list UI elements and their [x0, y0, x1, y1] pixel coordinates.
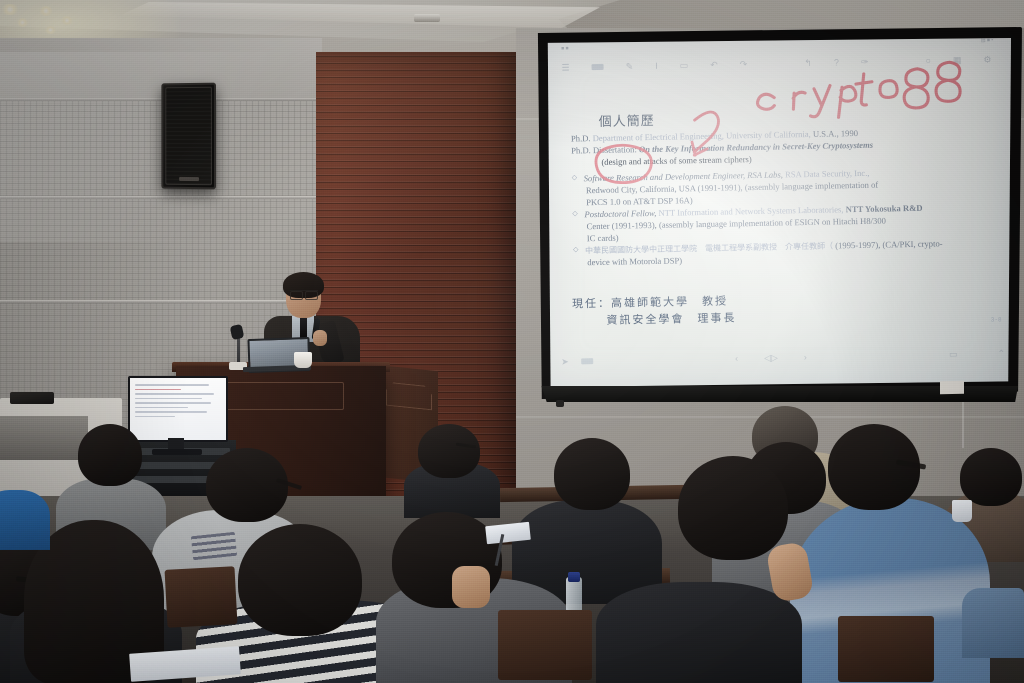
collapse-icon[interactable]: ⌃: [998, 349, 1006, 358]
chair-back: [838, 616, 934, 682]
rsa-company-faded: RSA Data Security, Inc.,: [785, 168, 870, 180]
menu-icon[interactable]: ☰: [561, 63, 569, 72]
share-icon[interactable]: ○: [925, 56, 931, 65]
presenter-hand: [313, 330, 327, 346]
slide-page-number: 3-8: [991, 317, 1003, 323]
ntt-center: NTT Yokosuka R&D: [846, 203, 923, 214]
lecture-hall-photo: ■ ■ ▤ ■ • ☰ ✎ I ▭ ↶ ↷ ↰ ? ✑ ○ ▦ ⚙ 個: [0, 0, 1024, 683]
grid-icon[interactable]: ▦: [953, 56, 962, 65]
slide-body: Ph.D. Department of Electrical Engineeri…: [571, 125, 998, 269]
downlight-icon: [60, 16, 74, 25]
help-icon[interactable]: ?: [834, 58, 839, 67]
downlight-icon: [16, 18, 29, 27]
attendee-front-right-dark: [596, 582, 802, 683]
slide-heading-cn: 個人簡歷: [598, 110, 654, 130]
chair-back: [165, 566, 238, 628]
water-bottle-cap: [568, 572, 580, 582]
current-position-line2: 資訊安全學會 理事長: [572, 309, 736, 329]
ntt-lab-faded: NTT Information and Network Systems Labo…: [658, 204, 843, 218]
hoodie-print-text: [191, 532, 237, 560]
attendee-grey-vest-head: [78, 424, 142, 486]
av-cabinet-shelf: [0, 416, 88, 460]
attendee-striped-shirt-head: [238, 524, 362, 636]
ntt-role: Postdoctoral Fellow,: [584, 208, 656, 219]
previous-slide-icon[interactable]: ‹: [735, 354, 738, 363]
gooseneck-microphone-head: [230, 324, 245, 340]
cursor-icon[interactable]: ➤: [561, 357, 569, 366]
attendee-blue-shirt-edge: [0, 490, 50, 550]
paper-cup-audience: [952, 500, 972, 522]
speaker-badge: [179, 177, 199, 181]
attendee-brown-coat-head: [960, 448, 1022, 506]
cabinet-top-object: [10, 392, 54, 404]
paper-cup: [294, 352, 312, 368]
projection-screen-pull-tab[interactable]: [940, 381, 964, 395]
ceiling-fixture-icon: [414, 14, 440, 22]
glasses-left-lens: [290, 291, 303, 300]
present-icon[interactable]: ▭: [949, 350, 958, 359]
settings-icon[interactable]: ⚙: [983, 55, 991, 64]
downlight-icon: [38, 6, 54, 16]
slide-status-left: ■ ■: [561, 46, 569, 52]
attendee-grey-hoodie-head: [206, 448, 288, 522]
phd-school-tail: U.S.A., 1990: [813, 128, 858, 139]
attendee-front-right-dark-head: [678, 456, 788, 560]
undo-icon[interactable]: ↶: [710, 60, 718, 69]
phd-label: Ph.D.: [571, 133, 593, 143]
wall-seam: [0, 196, 322, 199]
speaker-grille-icon: [165, 87, 212, 186]
confidence-monitor[interactable]: [128, 376, 228, 442]
downlight-icon: [0, 4, 20, 15]
attendee-blue-polo-arm: [962, 588, 1024, 658]
chair-back: [498, 610, 592, 680]
text-cursor-icon[interactable]: I: [655, 61, 658, 70]
attendee-blue-striped-polo-head: [828, 424, 920, 510]
dissertation-label: Ph.D. Dissertation:: [571, 144, 639, 155]
next-slide-icon[interactable]: ›: [804, 353, 807, 362]
cn-role-tail: (1995-1997), (CA/PKI, crypto-: [835, 238, 943, 250]
attendee-back-row-left-head: [418, 424, 480, 478]
redo-icon[interactable]: ↷: [740, 60, 748, 69]
play-slide-icon[interactable]: ◁▷: [764, 353, 778, 362]
glasses-icon: [290, 290, 318, 298]
eraser-icon[interactable]: ▭: [680, 61, 689, 70]
glasses-right-lens: [305, 291, 318, 300]
projection-screen[interactable]: ■ ■ ▤ ■ • ☰ ✎ I ▭ ↶ ↷ ↰ ? ✑ ○ ▦ ⚙ 個: [545, 38, 1011, 387]
downlight-icon: [44, 26, 57, 34]
highlighter-icon[interactable]: ✑: [861, 57, 869, 66]
monitor-base: [152, 449, 202, 455]
attendee-dark-jacket-center-head: [554, 438, 630, 510]
wall-speaker: [161, 83, 216, 190]
slide-current-position: 現任：高雄師範大學 教授 資訊安全學會 理事長: [572, 292, 737, 329]
wall-seam: [0, 300, 322, 303]
pointer-icon[interactable]: ↰: [804, 58, 812, 67]
slide-app-toolbar-top[interactable]: ☰ ✎ I ▭ ↶ ↷ ↰ ? ✑ ○ ▦ ⚙: [561, 51, 991, 75]
slide-status-right: ▤ ■ •: [981, 38, 993, 44]
pen-tool-icon[interactable]: [581, 358, 593, 364]
pen-icon[interactable]: ✎: [626, 62, 634, 71]
confidence-monitor-content: [135, 384, 221, 420]
projected-slide: ■ ■ ▤ ■ • ☰ ✎ I ▭ ↶ ↷ ↰ ? ✑ ○ ▦ ⚙ 個: [545, 38, 1011, 387]
screen-bracket: [556, 400, 564, 407]
slide-app-toolbar-bottom[interactable]: ➤ ‹ ◁▷ › ▭ ⌃: [561, 345, 1005, 370]
attendee-front-center-hand: [452, 566, 490, 608]
page-thumb-icon[interactable]: [592, 64, 604, 70]
